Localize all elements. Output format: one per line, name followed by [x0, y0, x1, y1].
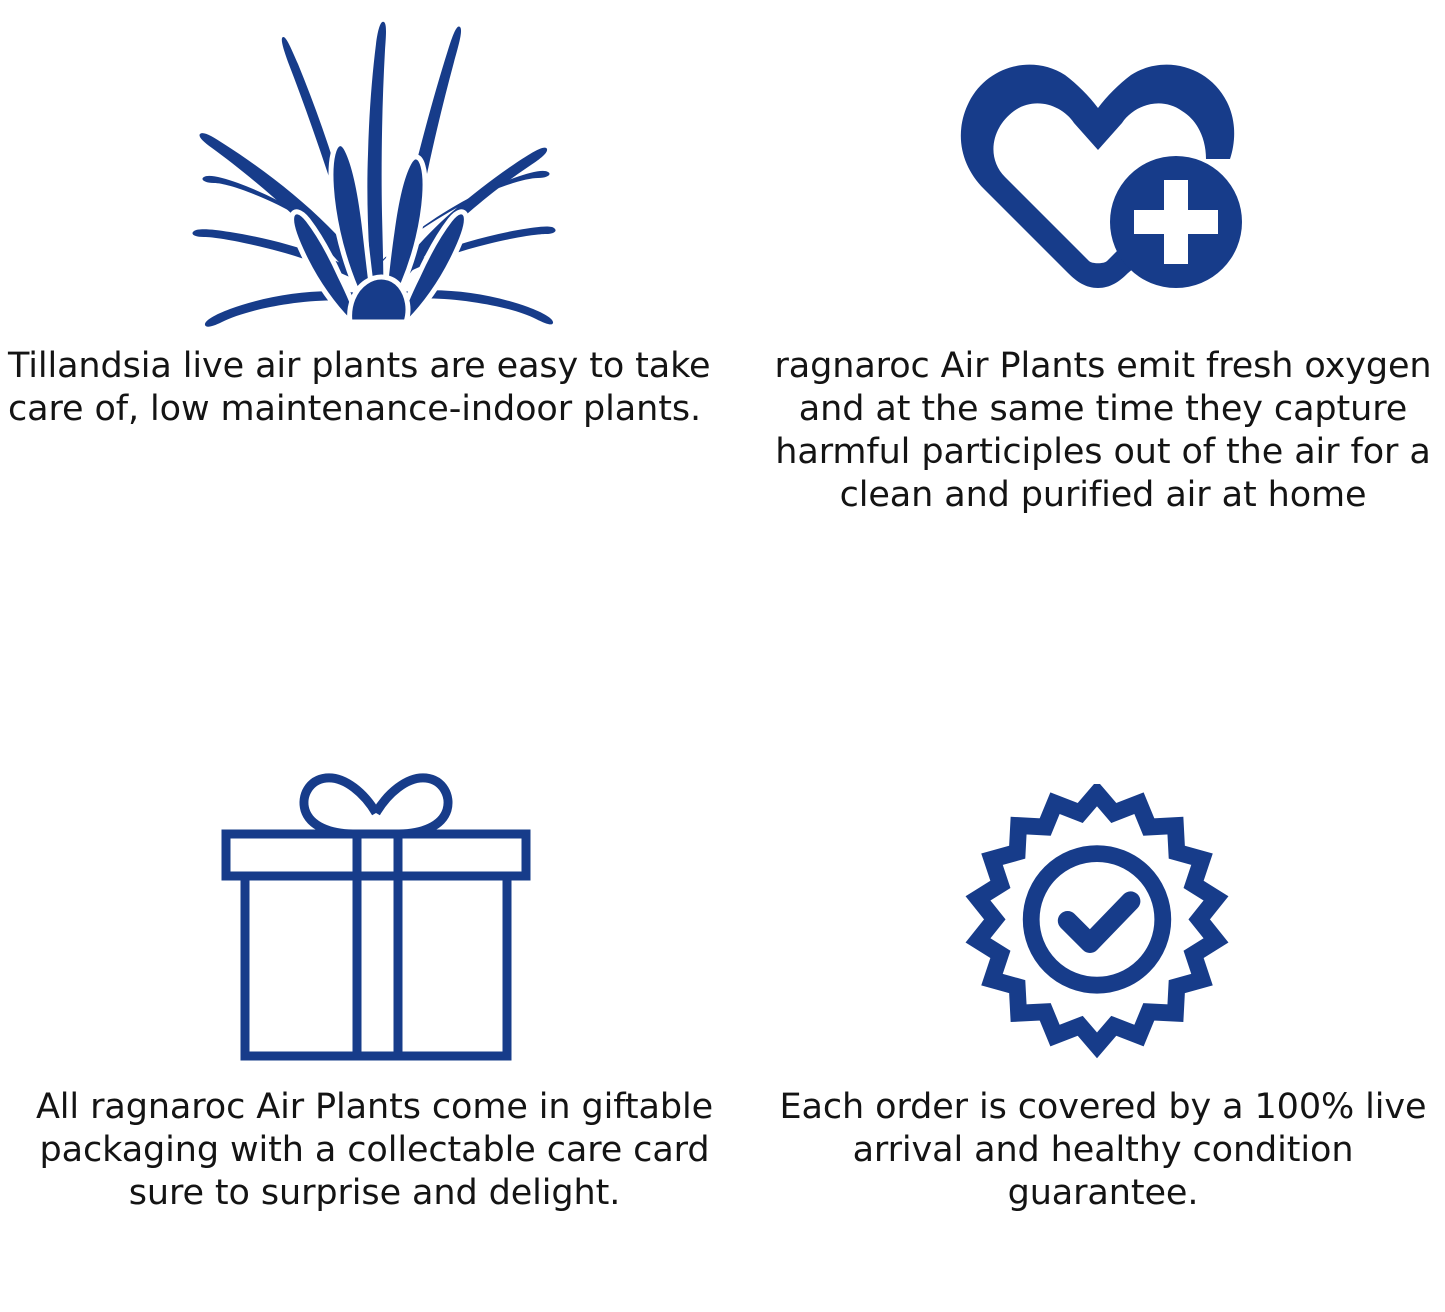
feature-card-giftable-packaging: All ragnaroc Air Plants come in giftable…: [0, 656, 745, 1312]
feature-card-air-purifying: ragnaroc Air Plants emit fresh oxygen an…: [745, 0, 1445, 656]
air-plant-icon: [0, 0, 745, 345]
feature-grid: Tillandsia live air plants are easy to t…: [0, 0, 1445, 1312]
feature-caption-live-arrival-guarantee: Each order is covered by a 100% live arr…: [745, 1086, 1445, 1215]
gift-box-icon: [0, 656, 745, 1086]
heart-plus-icon: [745, 0, 1445, 345]
feature-caption-air-purifying: ragnaroc Air Plants emit fresh oxygen an…: [745, 345, 1445, 517]
feature-card-live-arrival-guarantee: Each order is covered by a 100% live arr…: [745, 656, 1445, 1312]
feature-card-easy-care: Tillandsia live air plants are easy to t…: [0, 0, 745, 656]
guarantee-badge-icon: [745, 656, 1445, 1086]
feature-caption-easy-care: Tillandsia live air plants are easy to t…: [0, 345, 745, 431]
feature-caption-giftable-packaging: All ragnaroc Air Plants come in giftable…: [0, 1086, 745, 1215]
feature-grid-page: Tillandsia live air plants are easy to t…: [0, 0, 1445, 1312]
